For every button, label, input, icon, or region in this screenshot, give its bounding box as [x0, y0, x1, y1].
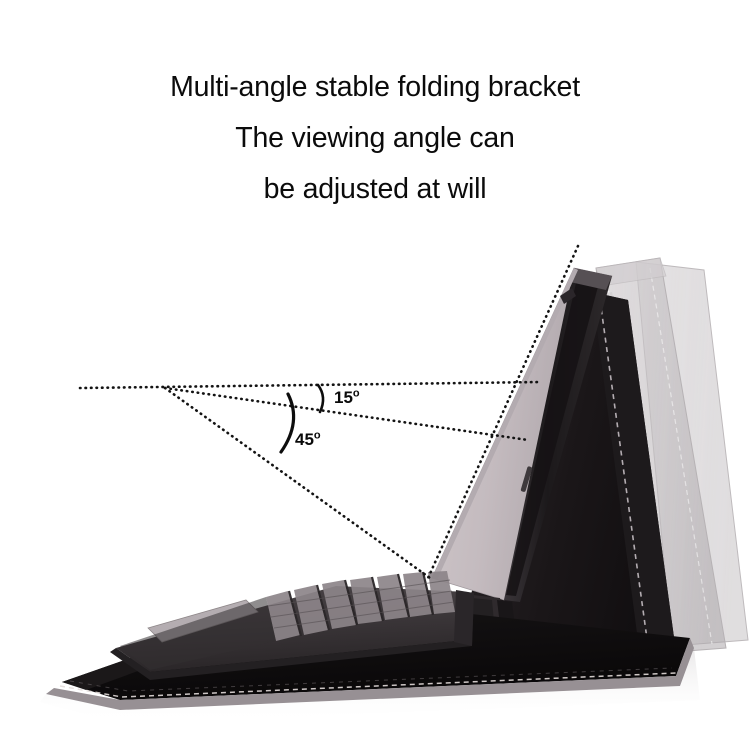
- angle-label-45: 45o: [295, 430, 321, 450]
- horizontal-reference-line: [80, 382, 540, 388]
- angle-label-15: 15o: [334, 388, 360, 408]
- product-illustration: [0, 0, 750, 750]
- angle-label-45-degree-symbol: o: [314, 429, 321, 441]
- product-marketing-image: Multi-angle stable folding bracket The v…: [0, 0, 750, 750]
- angle-label-15-value: 15: [334, 388, 353, 407]
- angle-label-45-value: 45: [295, 430, 314, 449]
- angle-label-15-degree-symbol: o: [353, 387, 360, 399]
- arc-marker-15: [318, 385, 323, 412]
- angle-ray-45: [165, 388, 430, 578]
- keyboard-right-cap: [454, 590, 474, 646]
- arc-marker-45: [281, 394, 294, 452]
